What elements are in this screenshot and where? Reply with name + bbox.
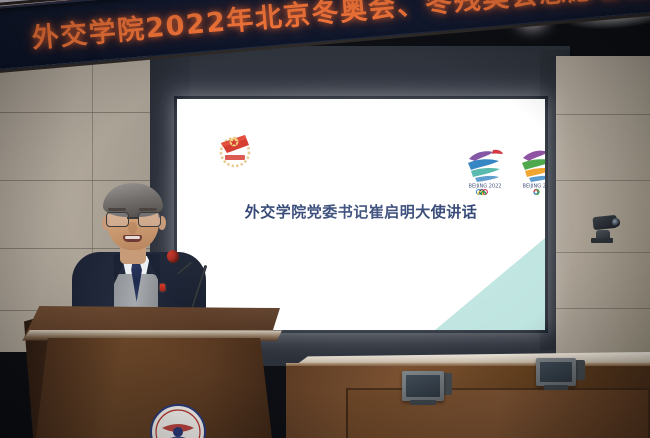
projection-screen: BEIJING 2022 bbox=[177, 99, 545, 330]
right-wall bbox=[556, 56, 650, 356]
photo-scene: 外交学院2022年北京冬奥会、冬残奥会志愿者出征仪式 bbox=[0, 0, 650, 438]
eyebrow-left bbox=[108, 208, 126, 211]
slide-title: 外交学院党委书记崔启明大使讲话 bbox=[177, 201, 545, 222]
conference-monitor-right bbox=[536, 358, 576, 386]
svg-text:BEIJING 2022: BEIJING 2022 bbox=[523, 184, 545, 190]
lapel-right bbox=[146, 254, 160, 284]
eyebrow-right bbox=[139, 208, 157, 211]
nose bbox=[128, 222, 137, 234]
conference-monitor-left bbox=[402, 371, 444, 401]
camera-base bbox=[596, 230, 610, 239]
party-emblem-pin bbox=[160, 284, 165, 291]
conference-table-panel bbox=[346, 388, 650, 438]
svg-text:BEIJING 2022: BEIJING 2022 bbox=[469, 184, 502, 190]
china-foreign-affairs-university-emblem bbox=[148, 402, 208, 438]
monitor-arm-right bbox=[575, 360, 585, 380]
projection-screen-frame: BEIJING 2022 bbox=[174, 96, 548, 333]
beijing-2022-olympic-emblem: BEIJING 2022 bbox=[459, 143, 511, 195]
mouth bbox=[123, 235, 142, 242]
communist-youth-league-emblem bbox=[215, 129, 255, 169]
slide-accent-triangle bbox=[435, 238, 545, 330]
beijing-2022-paralympic-emblem: BEIJING 2022 bbox=[513, 143, 545, 195]
